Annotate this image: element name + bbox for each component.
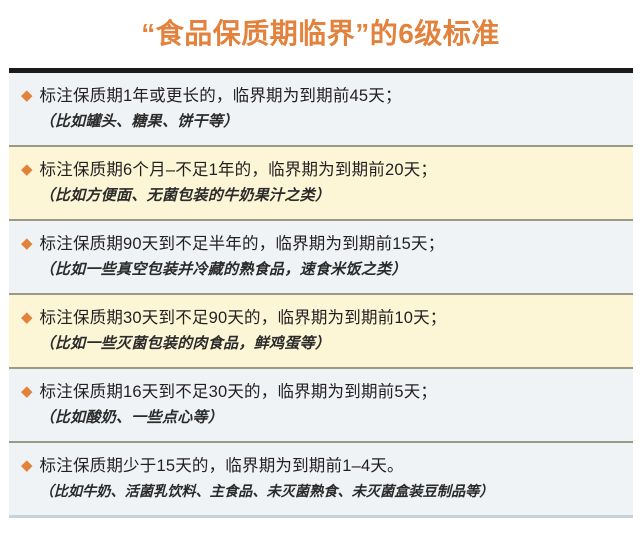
list-item-sub-text: （比如罐头、糖果、饼干等） bbox=[40, 110, 623, 134]
list-item-content: ◆ 标注保质期6个月–不足1年的，临界期为到期前20天； （比如方便面、无菌包装… bbox=[21, 159, 623, 208]
diamond-bullet-icon: ◆ bbox=[21, 381, 33, 403]
diamond-bullet-icon: ◆ bbox=[21, 233, 33, 255]
list-item-lines: 标注保质期16天到不足30天的，临界期为到期前5天； （比如酸奶、一些点心等） bbox=[40, 381, 623, 430]
standards-list: ◆ 标注保质期1年或更长的，临界期为到期前45天； （比如罐头、糖果、饼干等） … bbox=[9, 68, 633, 518]
diamond-bullet-icon: ◆ bbox=[21, 159, 33, 181]
list-item-sub-text: （比如牛奶、活菌乳饮料、主食品、未灭菌熟食、未灭菌盒装豆制品等） bbox=[40, 480, 623, 504]
list-item-sub-text: （比如一些灭菌包装的肉食品，鲜鸡蛋等） bbox=[40, 332, 623, 356]
list-item-lines: 标注保质期少于15天的，临界期为到期前1–4天。 （比如牛奶、活菌乳饮料、主食品… bbox=[40, 455, 623, 504]
list-item-sub-text: （比如酸奶、一些点心等） bbox=[40, 406, 623, 430]
list-item-sub-text: （比如一些真空包装并冷藏的熟食品，速食米饭之类） bbox=[40, 258, 623, 282]
list-item-content: ◆ 标注保质期少于15天的，临界期为到期前1–4天。 （比如牛奶、活菌乳饮料、主… bbox=[21, 455, 623, 504]
diamond-bullet-icon: ◆ bbox=[21, 455, 33, 477]
list-item-main-text: 标注保质期1年或更长的，临界期为到期前45天； bbox=[40, 85, 623, 108]
list-item-main-text: 标注保质期90天到不足半年的，临界期为到期前15天； bbox=[40, 233, 623, 256]
list-item-content: ◆ 标注保质期90天到不足半年的，临界期为到期前15天； （比如一些真空包装并冷… bbox=[21, 233, 623, 282]
list-item-main-text: 标注保质期16天到不足30天的，临界期为到期前5天； bbox=[40, 381, 623, 404]
list-item-main-text: 标注保质期6个月–不足1年的，临界期为到期前20天； bbox=[40, 159, 623, 182]
list-item: ◆ 标注保质期16天到不足30天的，临界期为到期前5天； （比如酸奶、一些点心等… bbox=[9, 369, 633, 443]
diamond-bullet-icon: ◆ bbox=[21, 307, 33, 329]
page-title: “食品保质期临界”的6级标准 bbox=[141, 20, 500, 48]
list-item-lines: 标注保质期30天到不足90天的，临界期为到期前10天； （比如一些灭菌包装的肉食… bbox=[40, 307, 623, 356]
list-item-main-text: 标注保质期30天到不足90天的，临界期为到期前10天； bbox=[40, 307, 623, 330]
list-item: ◆ 标注保质期1年或更长的，临界期为到期前45天； （比如罐头、糖果、饼干等） bbox=[9, 73, 633, 147]
list-item: ◆ 标注保质期6个月–不足1年的，临界期为到期前20天； （比如方便面、无菌包装… bbox=[9, 147, 633, 221]
list-item-content: ◆ 标注保质期16天到不足30天的，临界期为到期前5天； （比如酸奶、一些点心等… bbox=[21, 381, 623, 430]
list-item: ◆ 标注保质期30天到不足90天的，临界期为到期前10天； （比如一些灭菌包装的… bbox=[9, 295, 633, 369]
diamond-bullet-icon: ◆ bbox=[21, 85, 33, 107]
title-area: “食品保质期临界”的6级标准 bbox=[0, 0, 641, 68]
list-item-lines: 标注保质期6个月–不足1年的，临界期为到期前20天； （比如方便面、无菌包装的牛… bbox=[40, 159, 623, 208]
list-item-lines: 标注保质期90天到不足半年的，临界期为到期前15天； （比如一些真空包装并冷藏的… bbox=[40, 233, 623, 282]
list-item: ◆ 标注保质期少于15天的，临界期为到期前1–4天。 （比如牛奶、活菌乳饮料、主… bbox=[9, 443, 633, 515]
list-item-sub-text: （比如方便面、无菌包装的牛奶果汁之类） bbox=[40, 184, 623, 208]
list-item-main-text: 标注保质期少于15天的，临界期为到期前1–4天。 bbox=[40, 455, 623, 478]
list-item-lines: 标注保质期1年或更长的，临界期为到期前45天； （比如罐头、糖果、饼干等） bbox=[40, 85, 623, 134]
list-item-content: ◆ 标注保质期1年或更长的，临界期为到期前45天； （比如罐头、糖果、饼干等） bbox=[21, 85, 623, 134]
list-item-content: ◆ 标注保质期30天到不足90天的，临界期为到期前10天； （比如一些灭菌包装的… bbox=[21, 307, 623, 356]
list-item: ◆ 标注保质期90天到不足半年的，临界期为到期前15天； （比如一些真空包装并冷… bbox=[9, 221, 633, 295]
